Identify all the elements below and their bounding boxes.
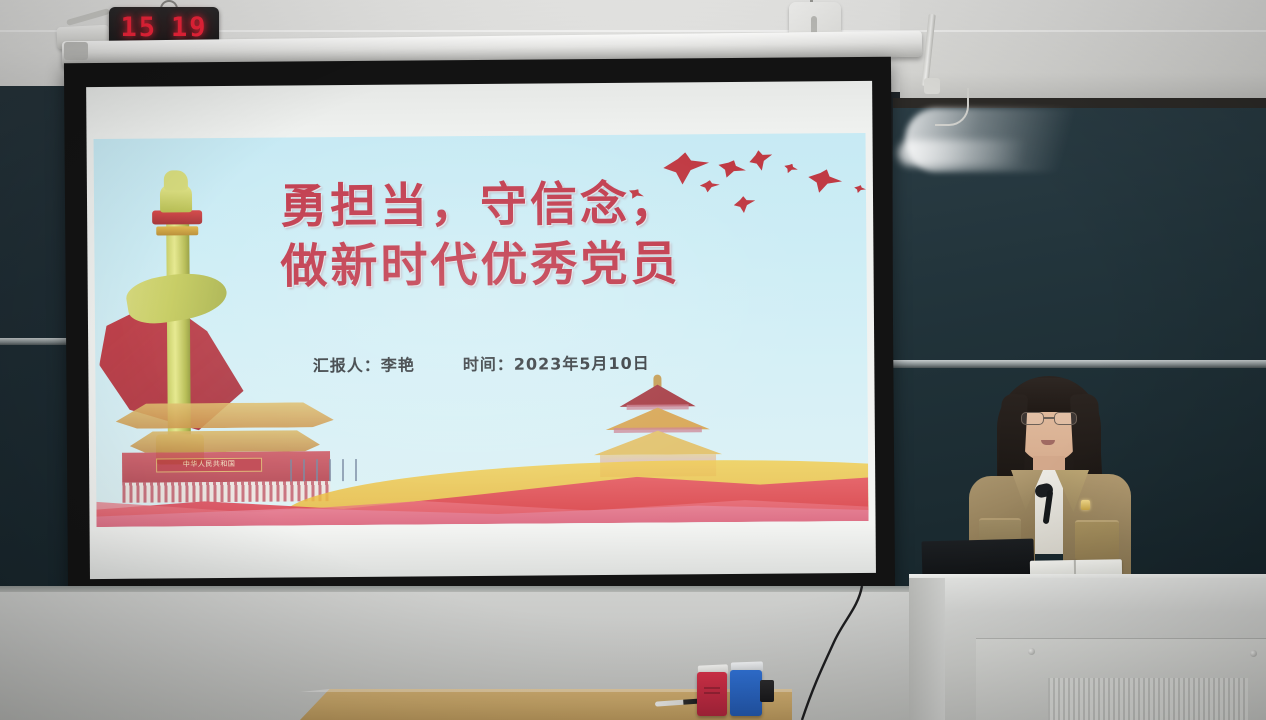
podium-screw bbox=[1028, 648, 1035, 655]
red-box[interactable] bbox=[697, 672, 727, 716]
slide-metadata: 汇报人：李艳 时间：2023年5月10日 bbox=[95, 348, 867, 378]
projection-screen-frame: 中华人民共和国 bbox=[64, 57, 895, 593]
tiananmen-balustrade bbox=[122, 481, 330, 503]
projection-screen-roller-cap bbox=[64, 42, 88, 60]
podium-vent bbox=[1048, 678, 1248, 720]
slide-date-label: 时间：2023年5月10日 bbox=[463, 350, 650, 375]
clock-hours: 15 bbox=[120, 12, 157, 43]
glasses-lens-right bbox=[1054, 412, 1077, 425]
projection-screen-surface: 中华人民共和国 bbox=[86, 81, 876, 579]
tiananmen-gate-icon: 中华人民共和国 bbox=[104, 399, 355, 511]
podium-side-panel bbox=[909, 578, 945, 720]
dove-icon bbox=[747, 146, 777, 175]
party-badge-icon bbox=[1081, 500, 1090, 510]
temple-roof-3 bbox=[594, 430, 722, 455]
presentation-slide: 中华人民共和国 bbox=[94, 133, 869, 527]
hanging-cable bbox=[800, 586, 872, 720]
tiananmen-roof-upper bbox=[116, 401, 334, 429]
chalk-rail-right bbox=[893, 360, 1266, 368]
slide-title-line-1: 勇担当，守信念， bbox=[94, 173, 866, 239]
slide-title: 勇担当，守信念， 做新时代优秀党员 bbox=[94, 173, 867, 299]
blue-box[interactable] bbox=[730, 670, 762, 716]
slide-title-line-2: 做新时代优秀党员 bbox=[94, 233, 866, 299]
glasses-bridge bbox=[1044, 417, 1054, 419]
dark-box[interactable] bbox=[760, 680, 774, 702]
glasses-icon bbox=[1021, 412, 1077, 425]
clock-minutes: 19 bbox=[171, 12, 208, 43]
tiananmen-roof-lower bbox=[130, 429, 320, 452]
presenter-pocket-right bbox=[1075, 520, 1119, 560]
classroom-scene: 15 19 bbox=[0, 0, 1266, 720]
tiananmen-flags bbox=[290, 459, 360, 482]
blackboard-glare-secondary bbox=[898, 140, 1078, 166]
slide-presenter-label: 汇报人：李艳 bbox=[313, 352, 415, 377]
tiananmen-banner: 中华人民共和国 bbox=[156, 458, 262, 473]
lower-wall-edge bbox=[0, 586, 940, 592]
glasses-lens-left bbox=[1021, 412, 1044, 425]
podium-screw bbox=[1250, 650, 1257, 657]
